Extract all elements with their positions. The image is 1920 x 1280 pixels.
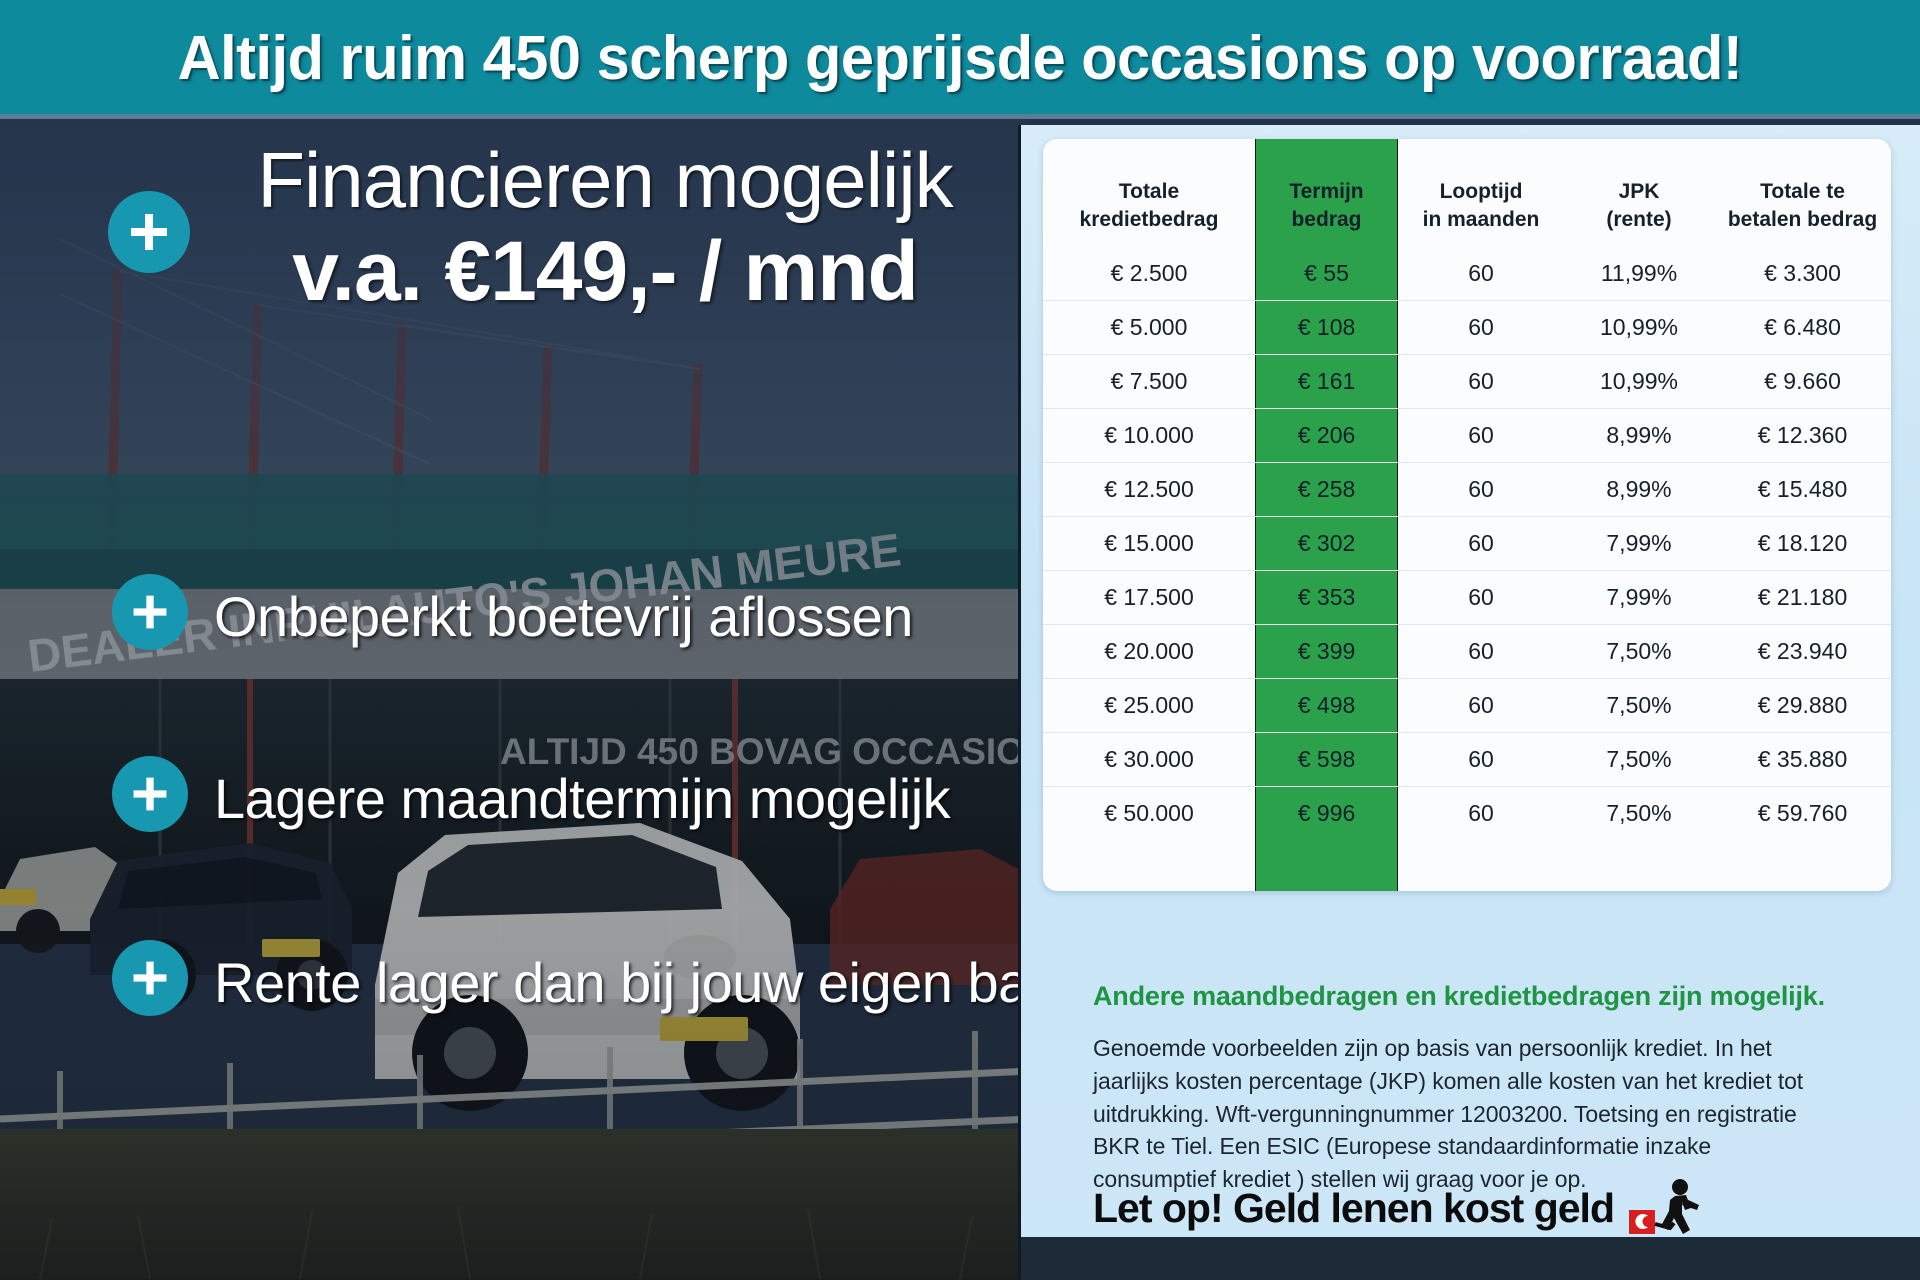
table-cell: € 7.500 (1043, 355, 1255, 409)
table-row: € 17.500€ 353607,99%€ 21.180 (1043, 571, 1891, 625)
col-header-termijn-bedrag: Termijn bedrag (1255, 139, 1398, 247)
table-cell: € 17.500 (1043, 571, 1255, 625)
table-cell: € 12.360 (1714, 409, 1891, 463)
plus-icon (129, 957, 171, 999)
col-header-jpk: JPK (rente) (1564, 139, 1714, 247)
bullet-label-3: Rente lager dan bij jouw eigen bank (214, 955, 1087, 1011)
col-header-line-2: bedrag (1255, 206, 1398, 234)
rate-table-header-row: Totale kredietbedrag Termijn bedrag Loop… (1043, 139, 1891, 247)
table-cell: € 108 (1255, 301, 1398, 355)
col-header-line-1: Termijn (1255, 178, 1398, 206)
table-cell: 60 (1398, 301, 1564, 355)
table-cell: 60 (1398, 247, 1564, 301)
table-row: € 2.500€ 556011,99%€ 3.300 (1043, 247, 1891, 301)
col-header-totale-te-betalen: Totale te betalen bedrag (1714, 139, 1891, 247)
promo-content: Financieren mogelijk v.a. €149,- / mnd O… (0, 119, 1030, 1280)
table-cell: 60 (1398, 463, 1564, 517)
table-cell: € 12.500 (1043, 463, 1255, 517)
table-cell: € 598 (1255, 733, 1398, 787)
table-cell: € 18.120 (1714, 517, 1891, 571)
table-row: € 30.000€ 598607,50%€ 35.880 (1043, 733, 1891, 787)
table-row: € 5.000€ 1086010,99%€ 6.480 (1043, 301, 1891, 355)
rate-table: Totale kredietbedrag Termijn bedrag Loop… (1043, 139, 1891, 840)
table-cell: € 15.480 (1714, 463, 1891, 517)
table-row: € 7.500€ 1616010,99%€ 9.660 (1043, 355, 1891, 409)
headline-line-1: Financieren mogelijk (200, 141, 1010, 219)
bullet-label-2: Lagere maandtermijn mogelijk (214, 771, 950, 827)
col-header-line-1: Totale (1043, 178, 1255, 206)
table-cell: € 6.480 (1714, 301, 1891, 355)
disclaimer-body: Genoemde voorbeelden zijn op basis van p… (1093, 1032, 1833, 1195)
table-cell: 7,99% (1564, 517, 1714, 571)
plus-icon (129, 591, 171, 633)
table-cell: € 55 (1255, 247, 1398, 301)
table-cell: 7,50% (1564, 787, 1714, 841)
table-cell: € 29.880 (1714, 679, 1891, 733)
plus-icon (129, 773, 171, 815)
table-row: € 25.000€ 498607,50%€ 29.880 (1043, 679, 1891, 733)
table-cell: € 15.000 (1043, 517, 1255, 571)
col-header-line-2: (rente) (1564, 206, 1714, 234)
disclaimer-title: Andere maandbedragen en kredietbedragen … (1093, 980, 1833, 1012)
col-header-totale-kredietbedrag: Totale kredietbedrag (1043, 139, 1255, 247)
table-cell: € 258 (1255, 463, 1398, 517)
table-cell: € 302 (1255, 517, 1398, 571)
loan-warning-row: Let op! Geld lenen kost geld (1093, 1178, 1893, 1238)
table-cell: 10,99% (1564, 355, 1714, 409)
table-cell: 60 (1398, 787, 1564, 841)
table-cell: € 161 (1255, 355, 1398, 409)
table-cell: € 353 (1255, 571, 1398, 625)
table-row: € 20.000€ 399607,50%€ 23.940 (1043, 625, 1891, 679)
table-cell: 7,50% (1564, 625, 1714, 679)
rate-table-body: € 2.500€ 556011,99%€ 3.300€ 5.000€ 10860… (1043, 247, 1891, 840)
table-cell: 60 (1398, 733, 1564, 787)
bullet-label-1: Onbeperkt boetevrij aflossen (214, 589, 913, 645)
table-cell: € 5.000 (1043, 301, 1255, 355)
table-cell: 60 (1398, 355, 1564, 409)
table-cell: 8,99% (1564, 409, 1714, 463)
table-cell: € 25.000 (1043, 679, 1255, 733)
table-cell: € 23.940 (1714, 625, 1891, 679)
table-cell: 7,99% (1564, 571, 1714, 625)
col-header-line-1: Totale te (1714, 178, 1891, 206)
table-cell: 7,50% (1564, 679, 1714, 733)
table-cell: 7,50% (1564, 733, 1714, 787)
disclaimer-block: Andere maandbedragen en kredietbedragen … (1093, 980, 1833, 1196)
table-cell: € 3.300 (1714, 247, 1891, 301)
table-cell: € 498 (1255, 679, 1398, 733)
table-cell: 60 (1398, 409, 1564, 463)
loan-warning-text: Let op! Geld lenen kost geld (1093, 1188, 1614, 1229)
col-header-line-2: betalen bedrag (1714, 206, 1891, 234)
table-cell: 60 (1398, 625, 1564, 679)
table-cell: € 59.760 (1714, 787, 1891, 841)
plus-icon (126, 209, 172, 255)
table-cell: € 2.500 (1043, 247, 1255, 301)
panel-bottom-strip (1021, 1237, 1920, 1280)
col-header-line-2: in maanden (1398, 206, 1564, 234)
top-banner: Altijd ruim 450 scherp geprijsde occasio… (0, 0, 1920, 118)
col-header-line-1: JPK (1564, 178, 1714, 206)
table-cell: € 30.000 (1043, 733, 1255, 787)
table-cell: € 399 (1255, 625, 1398, 679)
table-cell: 60 (1398, 517, 1564, 571)
table-cell: € 996 (1255, 787, 1398, 841)
table-cell: 11,99% (1564, 247, 1714, 301)
col-header-line-1: Looptijd (1398, 178, 1564, 206)
table-cell: 10,99% (1564, 301, 1714, 355)
table-row: € 15.000€ 302607,99%€ 18.120 (1043, 517, 1891, 571)
plus-icon-bullet-2 (112, 756, 188, 832)
financing-info-panel: Totale kredietbedrag Termijn bedrag Loop… (1018, 125, 1920, 1280)
rate-table-head: Totale kredietbedrag Termijn bedrag Loop… (1043, 139, 1891, 247)
table-cell: 60 (1398, 571, 1564, 625)
table-row: € 50.000€ 996607,50%€ 59.760 (1043, 787, 1891, 841)
table-cell: € 10.000 (1043, 409, 1255, 463)
table-cell: 8,99% (1564, 463, 1714, 517)
table-cell: € 9.660 (1714, 355, 1891, 409)
table-cell: 60 (1398, 679, 1564, 733)
col-header-looptijd: Looptijd in maanden (1398, 139, 1564, 247)
table-cell: € 21.180 (1714, 571, 1891, 625)
col-header-line-2: kredietbedrag (1043, 206, 1255, 234)
table-row: € 10.000€ 206608,99%€ 12.360 (1043, 409, 1891, 463)
banner-headline: Altijd ruim 450 scherp geprijsde occasio… (178, 28, 1743, 90)
table-cell: € 50.000 (1043, 787, 1255, 841)
plus-icon-bullet-3 (112, 940, 188, 1016)
table-cell: € 20.000 (1043, 625, 1255, 679)
headline-line-2: v.a. €149,- / mnd (200, 227, 1010, 315)
table-row: € 12.500€ 258608,99%€ 15.480 (1043, 463, 1891, 517)
plus-icon-headline (108, 191, 190, 273)
rate-table-card: Totale kredietbedrag Termijn bedrag Loop… (1043, 139, 1891, 891)
plus-icon-bullet-1 (112, 574, 188, 650)
table-cell: € 206 (1255, 409, 1398, 463)
table-cell: € 35.880 (1714, 733, 1891, 787)
afm-walking-man-icon (1628, 1178, 1702, 1238)
financing-promo-poster: Altijd ruim 450 scherp geprijsde occasio… (0, 0, 1920, 1280)
headline-block: Financieren mogelijk v.a. €149,- / mnd (200, 141, 1010, 315)
